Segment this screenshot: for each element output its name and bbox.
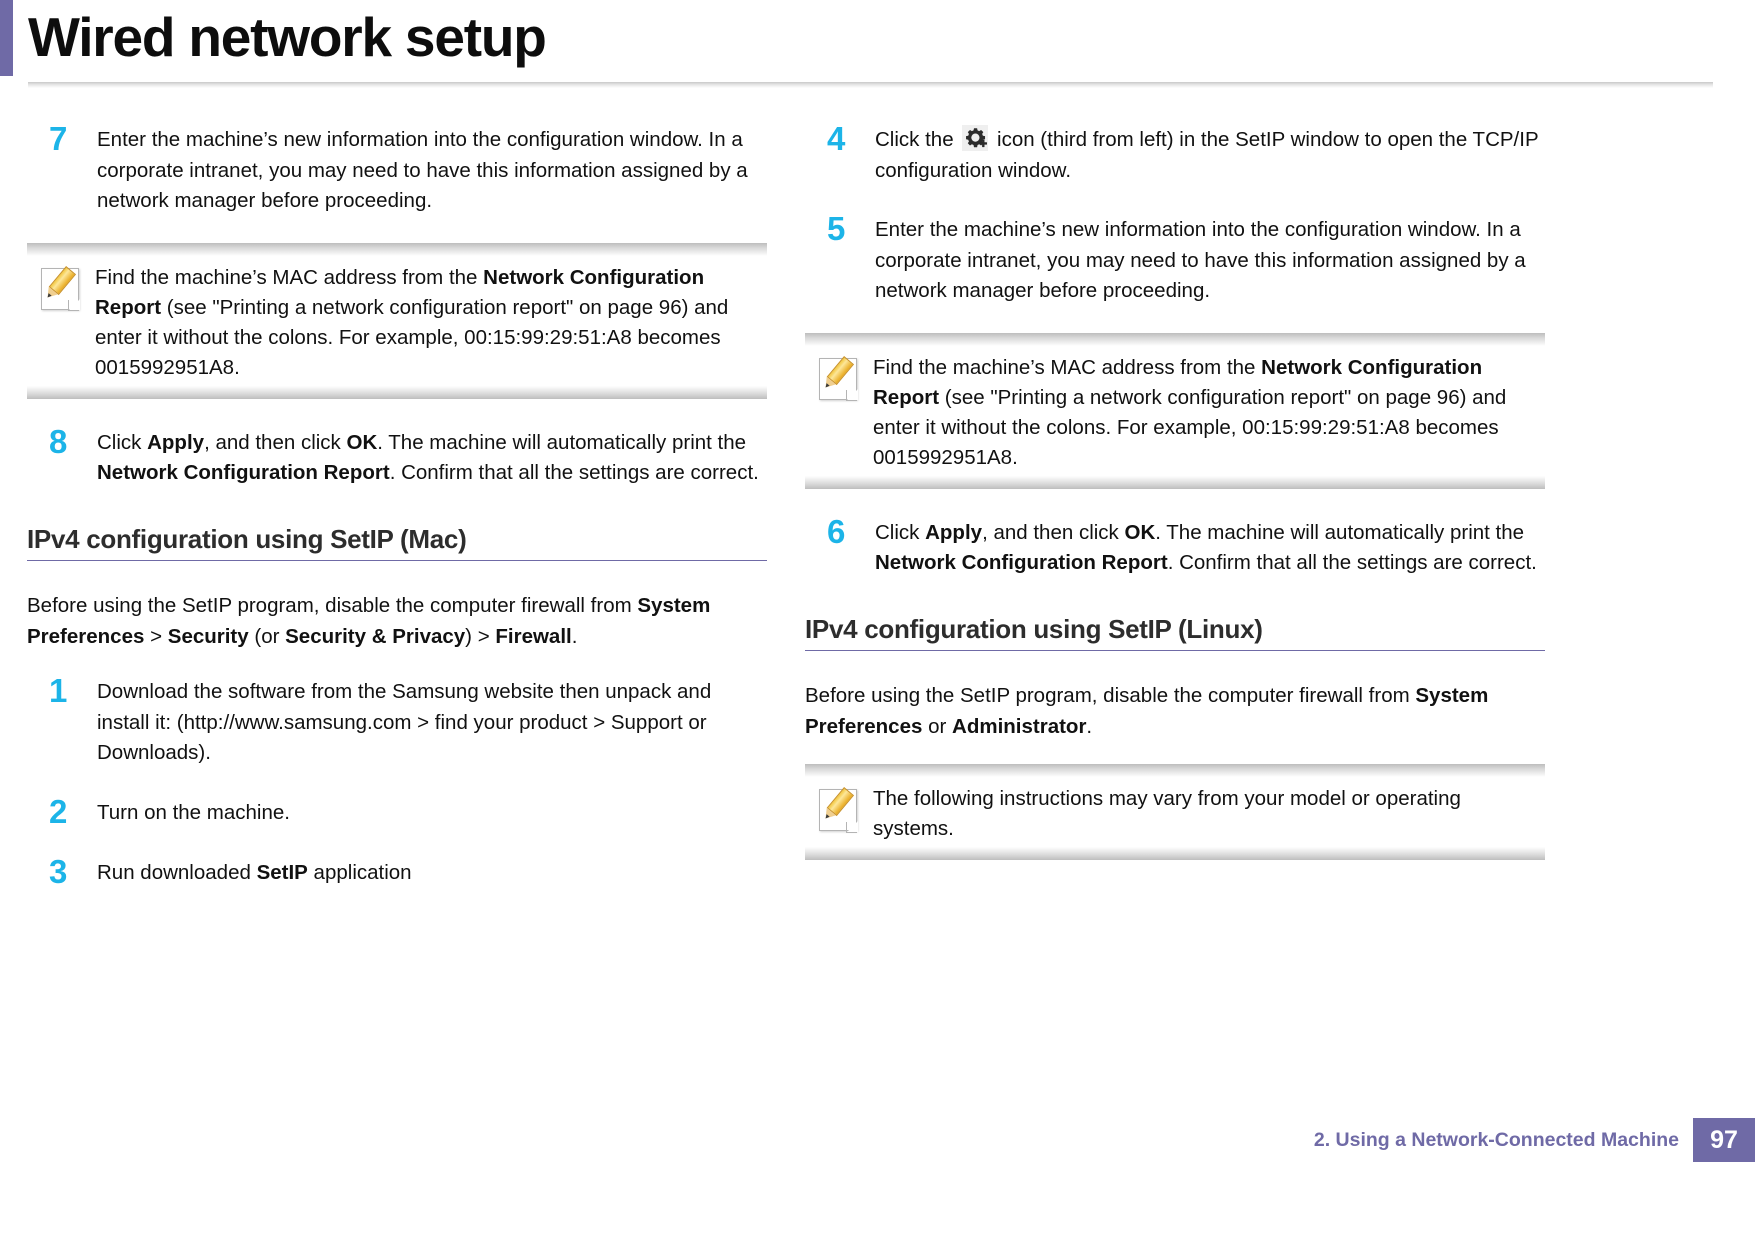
- note-top-divider: [805, 764, 1545, 777]
- note1-part1: Find the machine’s MAC address from the: [95, 266, 483, 289]
- step6-bold1: Apply: [925, 521, 982, 544]
- step8-bold3: Network Configuration Report: [97, 461, 390, 484]
- section-title: IPv4 configuration using SetIP (Linux): [805, 613, 1545, 645]
- note-box-1: Find the machine’s MAC address from the …: [27, 243, 767, 399]
- intro-part3: (or: [249, 625, 285, 648]
- step-text: Turn on the machine.: [97, 795, 767, 829]
- footer-chapter-label: 2. Using a Network-Connected Machine: [1314, 1118, 1693, 1162]
- step6-part1: Click: [875, 521, 925, 544]
- step-number: 4: [805, 122, 875, 156]
- right-column: 4 Click the icon (third from left) in th…: [805, 122, 1545, 886]
- step6-bold2: OK: [1125, 521, 1156, 544]
- intro-part2: or: [922, 715, 952, 738]
- step3-part2: application: [308, 861, 412, 884]
- page-number-badge: 97: [1693, 1118, 1755, 1162]
- step8-bold2: OK: [347, 431, 378, 454]
- step4-part1: Click the: [875, 128, 959, 151]
- note-text: Find the machine’s MAC address from the …: [95, 263, 761, 383]
- intro-bold2: Security: [168, 625, 249, 648]
- page-title: Wired network setup: [28, 2, 546, 72]
- step-number: 2: [27, 795, 97, 829]
- step-text: Enter the machine’s new information into…: [875, 212, 1545, 307]
- page-header: Wired network setup: [0, 0, 1755, 96]
- note2-part2: (see "Printing a network configuration r…: [873, 386, 1506, 469]
- intro-part1: Before using the SetIP program, disable …: [27, 594, 637, 617]
- step-item-8: 8 Click Apply, and then click OK. The ma…: [27, 425, 767, 489]
- step-item-6: 6 Click Apply, and then click OK. The ma…: [805, 515, 1545, 579]
- step6-part3: . The machine will automatically print t…: [1155, 521, 1524, 544]
- step-text: Click the icon (third from left) in the …: [875, 122, 1545, 186]
- intro-bold3: Security & Privacy: [285, 625, 465, 648]
- title-accent-bar: [0, 0, 13, 76]
- intro-bold2: Administrator: [952, 715, 1086, 738]
- step-number: 7: [27, 122, 97, 156]
- pencil-note-icon: [811, 786, 873, 836]
- pencil-note-icon: [811, 355, 873, 405]
- step-item-1: 1 Download the software from the Samsung…: [27, 674, 767, 769]
- gear-plus-icon: [962, 125, 988, 151]
- step-item-7: 7 Enter the machine’s new information in…: [27, 122, 767, 217]
- step8-part4: . Confirm that all the settings are corr…: [390, 461, 759, 484]
- step8-part3: . The machine will automatically print t…: [377, 431, 746, 454]
- step7-text: Enter the machine’s new information into…: [97, 128, 748, 212]
- step-item-2: 2 Turn on the machine.: [27, 795, 767, 829]
- step-number: 5: [805, 212, 875, 246]
- left-column: 7 Enter the machine’s new information in…: [27, 122, 767, 915]
- section-title: IPv4 configuration using SetIP (Mac): [27, 523, 767, 555]
- note-text: Find the machine’s MAC address from the …: [873, 353, 1539, 473]
- page-footer: 2. Using a Network-Connected Machine 97: [1314, 1118, 1755, 1162]
- step6-bold3: Network Configuration Report: [875, 551, 1168, 574]
- intro-part5: .: [572, 625, 578, 648]
- section-divider: [27, 560, 767, 562]
- intro-part1: Before using the SetIP program, disable …: [805, 684, 1415, 707]
- section-heading-mac: IPv4 configuration using SetIP (Mac): [27, 523, 767, 562]
- intro-bold4: Firewall: [495, 625, 571, 648]
- title-divider: [28, 82, 1713, 88]
- section-heading-linux: IPv4 configuration using SetIP (Linux): [805, 613, 1545, 652]
- step3-bold1: SetIP: [257, 861, 308, 884]
- step6-part4: . Confirm that all the settings are corr…: [1168, 551, 1537, 574]
- step-text: Enter the machine’s new information into…: [97, 122, 767, 217]
- step8-bold1: Apply: [147, 431, 204, 454]
- step-text: Run downloaded SetIP application: [97, 855, 767, 889]
- step-text: Download the software from the Samsung w…: [97, 674, 767, 769]
- section-intro-mac: Before using the SetIP program, disable …: [27, 591, 767, 652]
- intro-part4: ) >: [465, 625, 495, 648]
- step-number: 6: [805, 515, 875, 549]
- step-number: 3: [27, 855, 97, 889]
- note1-part2: (see "Printing a network configuration r…: [95, 296, 728, 379]
- step-item-5: 5 Enter the machine’s new information in…: [805, 212, 1545, 307]
- intro-part2: >: [144, 625, 167, 648]
- step-text: Click Apply, and then click OK. The mach…: [875, 515, 1545, 579]
- note-text: The following instructions may vary from…: [873, 784, 1539, 844]
- step-text: Click Apply, and then click OK. The mach…: [97, 425, 767, 489]
- note-bottom-divider: [27, 386, 767, 399]
- step-number: 1: [27, 674, 97, 708]
- note-bottom-divider: [805, 476, 1545, 489]
- step-number: 8: [27, 425, 97, 459]
- step6-part2: , and then click: [982, 521, 1124, 544]
- intro-part3: .: [1086, 715, 1092, 738]
- step-item-4: 4 Click the icon (third from left) in th…: [805, 122, 1545, 186]
- note-bottom-divider: [805, 847, 1545, 860]
- step-item-3: 3 Run downloaded SetIP application: [27, 855, 767, 889]
- note-box-2: Find the machine’s MAC address from the …: [805, 333, 1545, 489]
- section-intro-linux: Before using the SetIP program, disable …: [805, 681, 1545, 742]
- section-divider: [805, 650, 1545, 652]
- note-box-3: The following instructions may vary from…: [805, 764, 1545, 860]
- step3-part1: Run downloaded: [97, 861, 257, 884]
- pencil-note-icon: [33, 265, 95, 315]
- note-top-divider: [27, 243, 767, 256]
- step8-part2: , and then click: [204, 431, 346, 454]
- step8-part1: Click: [97, 431, 147, 454]
- note-top-divider: [805, 333, 1545, 346]
- note2-part1: Find the machine’s MAC address from the: [873, 356, 1261, 379]
